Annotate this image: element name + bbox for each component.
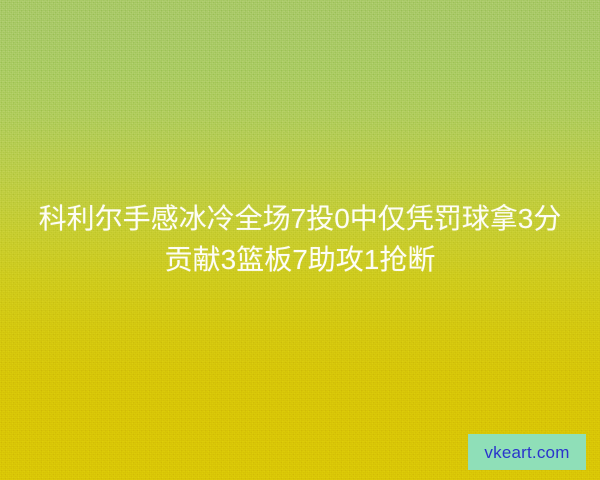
watermark-label: vkeart.com — [484, 444, 569, 461]
image-banner: 科利尔手感冰冷全场7投0中仅凭罚球拿3分 贡献3篮板7助攻1抢断 vkeart.… — [0, 0, 600, 480]
headline-text: 科利尔手感冰冷全场7投0中仅凭罚球拿3分 贡献3篮板7助攻1抢断 — [0, 198, 600, 280]
watermark-badge: vkeart.com — [468, 434, 586, 470]
